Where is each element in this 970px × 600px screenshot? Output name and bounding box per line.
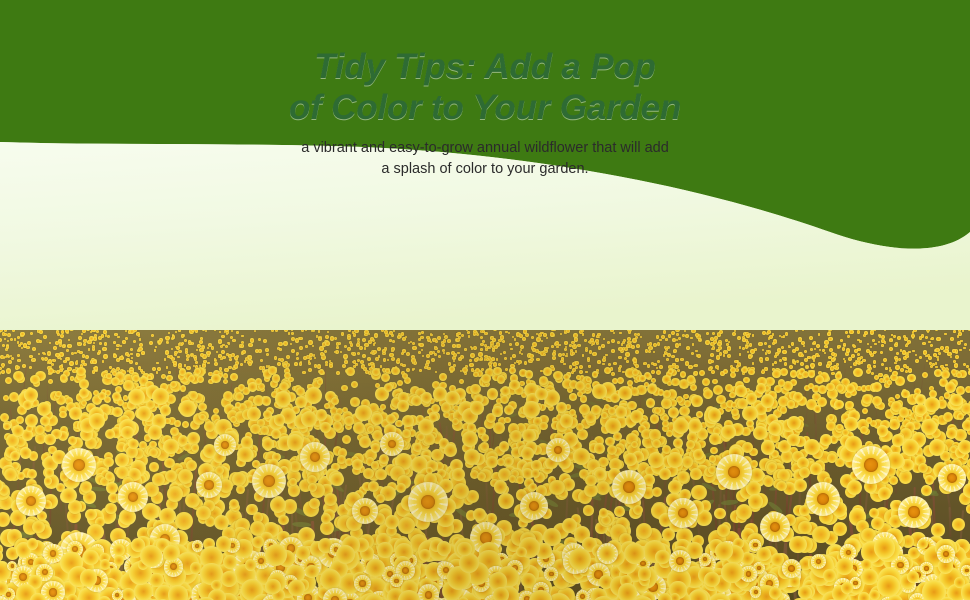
wildflower [765,357,769,361]
wildflower [610,329,613,332]
wildflower [398,306,400,308]
wildflower [575,361,579,365]
wildflower [863,313,866,316]
wildflower [764,302,768,306]
wildflower [133,310,136,313]
wildflower [586,377,591,382]
wildflower [804,439,820,455]
wildflower [83,363,86,366]
wildflower [806,366,808,368]
wildflower [66,318,68,320]
wildflower [684,289,687,292]
wildflower [330,473,344,487]
wildflower [148,425,162,439]
wildflower [787,434,799,446]
wildflower [698,305,701,308]
wildflower [560,317,564,321]
wildflower [504,417,511,424]
wildflower [387,359,389,361]
wildflower [565,355,567,357]
wildflower [3,423,10,430]
wildflower [255,288,259,292]
wildflower [614,506,625,517]
wildflower [913,312,916,315]
wildflower [85,355,89,359]
wildflower [680,294,684,298]
wildflower [50,304,54,308]
wildflower [931,296,935,300]
wildflower [326,311,330,315]
wildflower [38,298,41,301]
wildflower [69,407,82,420]
wildflower [543,367,552,376]
wildflower [725,295,728,298]
wildflower [49,342,51,344]
wildflower [241,325,245,329]
wildflower [103,313,106,316]
wildflower [173,324,176,327]
wildflower [197,376,204,383]
wildflower [594,443,604,453]
wildflower [359,436,371,448]
wildflower [434,346,437,349]
wildflower [499,441,509,451]
wildflower [518,363,520,365]
wildflower [786,320,790,324]
wildflower [662,309,666,313]
wildflower [650,303,653,306]
wildflower [747,351,749,353]
wildflower [711,288,714,291]
wildflower [556,346,558,348]
wildflower [716,355,720,359]
wildflower [211,374,220,383]
wildflower [856,361,859,364]
wildflower [489,305,493,309]
wildflower [752,362,754,364]
wildflower [547,347,549,349]
wildflower [389,339,392,342]
wildflower [589,307,592,310]
wildflower [509,327,512,330]
wildflower [365,317,367,319]
wildflower [429,413,438,422]
wildflower [279,382,289,392]
wildflower [749,327,752,330]
wildflower [864,331,868,335]
wildflower [188,303,192,307]
wildflower [645,288,647,290]
wildflower [329,364,333,368]
wildflower [759,310,762,313]
wildflower [234,364,239,369]
wildflower [87,317,90,320]
wildflower [867,343,870,346]
wildflower [954,300,957,303]
wildflower [216,351,219,354]
wildflower [574,337,578,341]
wildflower [931,523,945,537]
wildflower [628,330,631,333]
wildflower [402,303,405,306]
wildflower [199,340,203,344]
wildflower [780,406,787,413]
wildflower [817,355,820,358]
wildflower [838,305,841,308]
wildflower [952,349,955,352]
wildflower [666,430,673,437]
wildflower [761,394,774,407]
wildflower [272,374,281,383]
wildflower [67,344,71,348]
wildflower [99,342,102,345]
wildflower [663,303,666,306]
wildflower [783,301,786,304]
wildflower [123,304,127,308]
wildflower [638,287,640,289]
wildflower [893,335,895,337]
wildflower [195,361,198,364]
wildflower [845,352,849,356]
wildflower [230,336,233,339]
wildflower [616,300,618,302]
wildflower [268,302,270,304]
wildflower [653,343,657,347]
wildflower [810,348,813,351]
wildflower [186,314,190,318]
wildflower [83,343,86,346]
wildflower [878,373,883,378]
wildflower [69,326,74,331]
wildflower [340,326,343,329]
wildflower [714,508,725,519]
wildflower [946,324,949,327]
wildflower [156,371,159,374]
wildflower [261,288,264,291]
wildflower [641,313,643,315]
wildflower [421,392,432,403]
wildflower [260,426,268,434]
wildflower [159,302,163,306]
wildflower [437,350,440,353]
wildflower [459,379,464,384]
wildflower [839,294,843,298]
wildflower [810,463,821,474]
wildflower [163,439,179,455]
wildflower [845,401,853,409]
wildflower [20,447,31,458]
wildflower [546,313,549,316]
wildflower [711,360,714,363]
wildflower [802,329,804,331]
wildflower [732,332,736,336]
wildflower [223,391,233,401]
wildflower [439,373,446,380]
wildflower [510,348,512,350]
wildflower [457,352,460,355]
wildflower [343,354,347,358]
wildflower [496,297,499,300]
wildflower [960,340,962,342]
wildflower [288,332,291,335]
wildflower [964,343,967,346]
wildflower [814,348,816,350]
wildflower [798,290,800,292]
wildflower [849,317,853,321]
wildflower [457,344,461,348]
wildflower-field [0,286,970,600]
wildflower [207,347,209,349]
wildflower [872,382,882,392]
wildflower [32,300,35,303]
wildflower [202,346,205,349]
wildflower [749,343,753,347]
wildflower [60,358,62,360]
wildflower [826,421,836,431]
wildflower [372,368,380,376]
wildflower [957,413,964,420]
wildflower [188,340,191,343]
wildflower [214,328,216,330]
wildflower [963,286,967,290]
wildflower [166,366,168,368]
wildflower [271,329,274,332]
wildflower [922,342,926,346]
wildflower [675,358,678,361]
wildflower [768,345,771,348]
wildflower [428,291,432,295]
wildflower [510,430,522,442]
wildflower [447,322,450,325]
wildflower [892,434,905,447]
wildflower [945,364,948,367]
wildflower [962,329,965,332]
wildflower [229,358,232,361]
wildflower [626,293,629,296]
wildflower [648,452,664,468]
wildflower [421,349,423,351]
wildflower [963,300,967,304]
wildflower [830,293,834,297]
wildflower [848,298,851,301]
wildflower [929,301,932,304]
wildflower [354,313,358,317]
wildflower [268,318,271,321]
wildflower [158,340,162,344]
wildflower [579,311,581,313]
wildflower [61,302,64,305]
wildflower [3,322,5,324]
wildflower [136,292,140,296]
wildflower [221,335,224,338]
wildflower [236,331,239,334]
wildflower [617,309,621,313]
wildflower [378,319,381,322]
wildflower [178,435,189,446]
wildflower [650,414,660,424]
wildflower [168,332,170,334]
wildflower [575,350,577,352]
wildflower [176,346,180,350]
wildflower [922,324,925,327]
wildflower [403,318,405,320]
wildflower [321,309,324,312]
wildflower [59,289,62,292]
wildflower [524,361,528,365]
wildflower [59,411,66,418]
wildflower [501,386,510,395]
wildflower [342,435,351,444]
wildflower [613,432,622,441]
wildflower [851,354,855,358]
wildflower [937,290,941,294]
wildflower [651,378,656,383]
wildflower [350,297,354,301]
wildflower [843,343,845,345]
wildflower [871,372,874,375]
wildflower [930,323,933,326]
wildflower [543,333,547,337]
wildflower [870,346,872,348]
wildflower [656,367,658,369]
wildflower [154,349,157,352]
wildflower [103,330,106,333]
wildflower [889,339,893,343]
wildflower [195,329,198,332]
wildflower [229,499,239,509]
wildflower [828,337,832,341]
wildflower [402,429,411,438]
wildflower [237,447,253,463]
wildflower [692,308,694,310]
wildflower [694,300,698,304]
wildflower [66,357,69,360]
wildflower [470,401,484,415]
wildflower [827,332,831,336]
wildflower [278,304,280,306]
wildflower [905,355,908,358]
wildflower [98,305,102,309]
wildflower [397,400,410,413]
wildflower [352,459,362,469]
wildflower [439,324,441,326]
wildflower [592,384,607,399]
wildflower [65,304,68,307]
wildflower [928,341,930,343]
wildflower [898,358,901,361]
wildflower [338,290,342,294]
wildflower [817,296,821,300]
wildflower [764,367,767,370]
wildflower [765,309,767,311]
wildflower [562,304,566,308]
wildflower [890,298,893,301]
wildflower [222,356,226,360]
wildflower [494,322,497,325]
wildflower [279,348,282,351]
wildflower [756,290,759,293]
wildflower [752,334,754,336]
wildflower [502,287,506,291]
wildflower [65,329,69,333]
wildflower [104,342,108,346]
wildflower [149,462,159,472]
wildflower [75,297,78,300]
wildflower [680,371,686,377]
wildflower [865,297,868,300]
wildflower [713,385,723,395]
wildflower [847,335,851,339]
wildflower [114,333,117,336]
wildflower [790,370,797,377]
wildflower [281,297,285,301]
wildflower [89,297,93,301]
wildflower [444,444,457,457]
wildflower [447,311,449,313]
wildflower [473,346,477,350]
wildflower [452,344,455,347]
wildflower [344,360,347,363]
wildflower [655,288,659,292]
wildflower [899,470,912,483]
wildflower [635,350,639,354]
wildflower [192,295,194,297]
wildflower [164,458,175,469]
wildflower [228,322,231,325]
wildflower [438,287,441,290]
wildflower [485,290,488,293]
wildflower [102,360,105,363]
wildflower [793,287,796,290]
wildflower [880,351,884,355]
wildflower [53,326,56,329]
wildflower [408,310,412,314]
wildflower [870,311,873,314]
wildflower [733,316,735,318]
wildflower [127,354,130,357]
wildflower [418,338,421,341]
wildflower [228,342,230,344]
wildflower [270,304,272,306]
wildflower [402,298,405,301]
wildflower [782,350,786,354]
wildflower [124,293,129,298]
wildflower [926,298,929,301]
wildflower [923,314,926,317]
wildflower [633,358,637,362]
wildflower [688,419,701,432]
wildflower [92,360,96,364]
wildflower [302,371,306,375]
wildflower [958,332,961,335]
wildflower [678,337,681,340]
wildflower [844,360,846,362]
wildflower [370,352,372,354]
wildflower [912,302,915,305]
wildflower [338,342,341,345]
wildflower [885,367,888,370]
wildflower [378,355,381,358]
wildflower [820,434,832,446]
wildflower [467,331,470,334]
wildflower [0,302,1,305]
wildflower [773,316,776,319]
wildflower [219,286,221,288]
wildflower [656,286,658,288]
wildflower [505,306,508,309]
wildflower [576,375,581,380]
wildflower [684,330,686,332]
